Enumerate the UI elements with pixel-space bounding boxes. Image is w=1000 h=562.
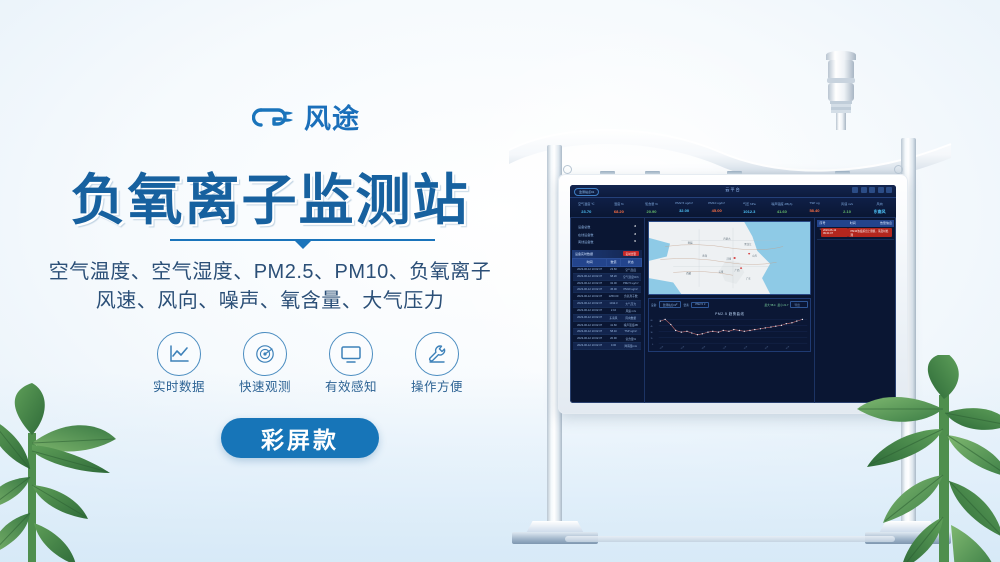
device-select-value: 监测站点01 [663,303,676,307]
stat-label: 离线设备数 [578,239,593,244]
kpi-value: 1012.3 [733,209,766,214]
mount-hook-left-icon [563,165,572,174]
column-header: 状态 [620,258,641,266]
chart-controls: 设备: 监测站点01 ▾ 要素: PM2.5 ▾ [649,299,811,310]
divider-triangle-icon [294,240,312,249]
device-select-label: 设备: [651,303,657,307]
chart-icon[interactable] [878,187,884,193]
stat-value: 0 [634,239,636,244]
chevron-down-icon: ▾ [704,303,705,306]
column-header: 数值 [607,258,620,266]
kpi-value: 41.60 [766,209,799,214]
trend-chart-panel: 设备: 监测站点01 ▾ 要素: PM2.5 ▾ [648,298,812,352]
feature-item-fast-observation[interactable]: 快速观测 [234,332,296,396]
kpi-label: 氧含量 % [635,201,668,206]
cloud-leaf-logo-icon [252,104,296,134]
kpi-card: 空气温度 ℃ 23.70 [570,198,603,217]
alert-row[interactable]: 1 2023-06-12 09:41:07 PM10浓度超出上限值，请及时处理 [817,227,894,240]
kpi-label: 风速 m/s [831,201,864,206]
ground-bar [565,536,895,542]
realtime-alarm-badge[interactable]: 实时告警 [623,251,639,256]
export-button[interactable]: 导出 [790,301,808,308]
export-label: 导出 [794,303,799,307]
kpi-value: 20.90 [635,209,668,214]
mount-hook-right-icon [894,165,903,174]
factor-select-label: 要素: [683,303,689,307]
kpi-value: 东南风 [863,209,896,215]
svg-text:04:00: 04:00 [681,346,685,350]
kpi-label: PM2.5 ug/m³ [668,201,701,205]
cta-button-color-screen[interactable]: 彩屏款 [221,418,379,458]
table-row[interactable]: 2023-06-12 10:02:370.00降雨量mm [573,342,642,349]
svg-text:0: 0 [652,344,653,346]
display-cabinet: 监测站点01 云平台 空气温度 ℃ 23.70 [558,174,908,414]
kpi-card: 噪声强度 dB(A) 41.60 [766,198,799,217]
dashboard-header: 监测站点01 云平台 [570,185,896,198]
hero-subtitle: 空气温度、空气湿度、PM2.5、PM10、负氧离子 风速、风向、噪声、氧含量、大… [0,258,540,316]
feature-list: 实时数据 快速观测 [148,332,468,396]
brand-name: 风途 [304,104,360,134]
kpi-row: 空气温度 ℃ 23.70 湿度 % 68.20 氧含量 % 20.90 PM [570,198,896,218]
left-table-body: 2023-06-12 10:02:3723.60空气温度 2023-06-12 … [573,266,642,349]
center-panel: 新疆内蒙古 黑龙江青海 河南山东 云南广西 广东西藏 [645,218,815,403]
svg-text:45: 45 [651,326,653,328]
subtitle-line-2: 风速、风向、噪声、氧含量、大气压力 [0,287,540,316]
dashboard: 监测站点01 云平台 空气温度 ℃ 23.70 [570,185,896,403]
kpi-label: 气压 hPa [733,201,766,206]
dashboard-title: 云平台 [570,187,896,193]
svg-text:16:00: 16:00 [744,346,748,350]
factor-select[interactable]: PM2.5 ▾ [691,302,709,308]
chart-stat-min: 最小 21.7 [778,303,789,307]
kpi-card: PM2.5 ug/m³ 32.00 [668,198,701,217]
stat-label: 在线设备数 [578,232,593,237]
dashboard-toolbar[interactable] [852,187,892,193]
device-stat-row: 离线设备数 0 [574,238,640,246]
svg-text:20:00: 20:00 [765,346,769,350]
radar-observe-icon [243,332,287,376]
feature-item-effective-sensing[interactable]: 有效感知 [320,332,382,396]
kpi-value: 45.00 [700,208,733,213]
brand-logo: 风途 [252,104,360,134]
kpi-label: TSP ug [798,201,831,205]
line-chart-icon [157,332,201,376]
svg-text:30: 30 [651,332,653,334]
right-panel: 序号 时间 告警信息 1 2023-06-12 09:41:07 PM10浓度超… [814,218,896,403]
china-map[interactable]: 新疆内蒙古 黑龙江青海 河南山东 云南广西 广东西藏 [648,221,812,295]
kpi-value: 68.20 [603,209,636,214]
kpi-card: 风向 东南风 [863,198,896,217]
device-stats: 设备总数 3 在线设备数 3 离线设备数 0 [572,220,642,250]
stat-value: 3 [634,224,636,229]
kpi-card: 氧含量 % 20.90 [635,198,668,217]
kpi-value: 32.00 [668,208,701,213]
led-screen[interactable]: 监测站点01 云平台 空气温度 ℃ 23.70 [570,185,896,403]
kpi-label: 湿度 % [603,201,636,206]
stat-value: 3 [634,232,636,237]
subtitle-line-1: 空气温度、空气湿度、PM2.5、PM10、负氧离子 [0,258,540,287]
title-divider [170,236,435,248]
table-row[interactable]: 2023-06-12 10:02:3720.90氧含量% [573,335,642,342]
kpi-card: 气压 hPa 1012.3 [733,198,766,217]
table-row[interactable]: 2023-06-12 10:02:3741.60噪声强度dB [573,322,642,329]
device-stat-row: 设备总数 3 [574,223,640,231]
kpi-value: 23.70 [570,209,603,214]
alert-message: PM10浓度超出上限值，请及时处理 [848,228,892,237]
grid-icon[interactable] [852,187,858,193]
hero-banner: 风途 负氧离子监测站 空气温度、空气湿度、PM2.5、PM10、负氧离子 风速、… [0,0,1000,562]
table-header-row: 时间 数值 状态 [573,258,642,266]
feature-item-realtime-data[interactable]: 实时数据 [148,332,210,396]
device-stat-row: 在线设备数 3 [574,231,640,239]
wrench-icon [415,332,459,376]
alert-column-time: 时间 [850,221,856,225]
page-title: 负氧离子监测站 [0,155,540,235]
feature-label: 操作方便 [411,380,463,394]
stat-label: 设备总数 [578,224,590,229]
column-header: 时间 [573,258,607,266]
feature-label: 实时数据 [153,380,205,394]
kpi-card: PM10 ug/m³ 45.00 [700,198,733,217]
feature-label: 有效感知 [325,380,377,394]
alert-column-index: 序号 [819,221,825,225]
alerts-header: 序号 时间 告警信息 [817,220,894,227]
kpi-label: PM10 ug/m³ [700,201,733,205]
table-row[interactable]: 2023-06-12 10:02:3723.60空气温度 [573,266,642,273]
table-row[interactable]: 2023-06-12 10:02:371250.00负氧离子数 [573,293,642,300]
alert-column-message: 告警信息 [880,221,892,225]
left-panel-title: 设备实时数据 [575,252,593,256]
svg-text:15: 15 [651,338,653,340]
table-row[interactable]: 2023-06-12 10:02:37东南风风向数据 [573,314,642,321]
left-data-table: 时间 数值 状态 2023-06-12 10:02:3723.60空气温度 20… [572,258,642,350]
chart-stat-max: 最大 58.4 [765,303,776,307]
svg-text:12:00: 12:00 [723,346,727,350]
kpi-card: 湿度 % 68.20 [603,198,636,217]
map-icon[interactable] [869,187,875,193]
left-panel-title-bar: 设备实时数据 实时告警 [572,250,642,258]
left-panel: 设备总数 3 在线设备数 3 离线设备数 0 [570,218,645,403]
table-row[interactable]: 2023-06-12 10:02:372.10风速 m/s [573,307,642,314]
svg-text:24:00: 24:00 [786,346,790,350]
kpi-card: 风速 m/s 2.10 [831,198,864,217]
feature-item-easy-operation[interactable]: 操作方便 [406,332,468,396]
table-row[interactable]: 2023-06-12 10:02:3768.20空气湿度%rh [573,273,642,280]
kpi-label: 风向 [863,201,896,206]
trend-line-chart: 604530 150 00:00 04:00 08:00 12:00 16:00 [649,316,811,350]
device-select[interactable]: 监测站点01 ▾ [659,301,682,308]
svg-text:08:00: 08:00 [702,346,706,350]
svg-text:60: 60 [651,320,653,322]
kpi-card: TSP ug 58.40 [798,198,831,217]
table-row[interactable]: 2023-06-12 10:02:371012.3大气压力 [573,300,642,307]
svg-text:00:00: 00:00 [660,346,664,350]
dashboard-body: 设备总数 3 在线设备数 3 离线设备数 0 [570,218,896,403]
hero-text-column: 风途 负氧离子监测站 空气温度、空气湿度、PM2.5、PM10、负氧离子 风速、… [0,0,540,562]
factor-select-value: PM2.5 [695,303,703,306]
feature-label: 快速观测 [239,380,291,394]
kpi-value: 2.10 [831,209,864,214]
kpi-label: 空气温度 ℃ [570,201,603,206]
kpi-value: 58.40 [798,208,831,213]
alert-icon[interactable] [886,187,892,193]
product-illustration: 监测站点01 云平台 空气温度 ℃ 23.70 [505,40,985,540]
list-icon[interactable] [861,187,867,193]
kpi-label: 噪声强度 dB(A) [766,201,799,206]
alert-time: 2023-06-12 09:41:07 [821,228,849,237]
chevron-down-icon: ▾ [676,303,677,307]
monitor-icon [329,332,373,376]
